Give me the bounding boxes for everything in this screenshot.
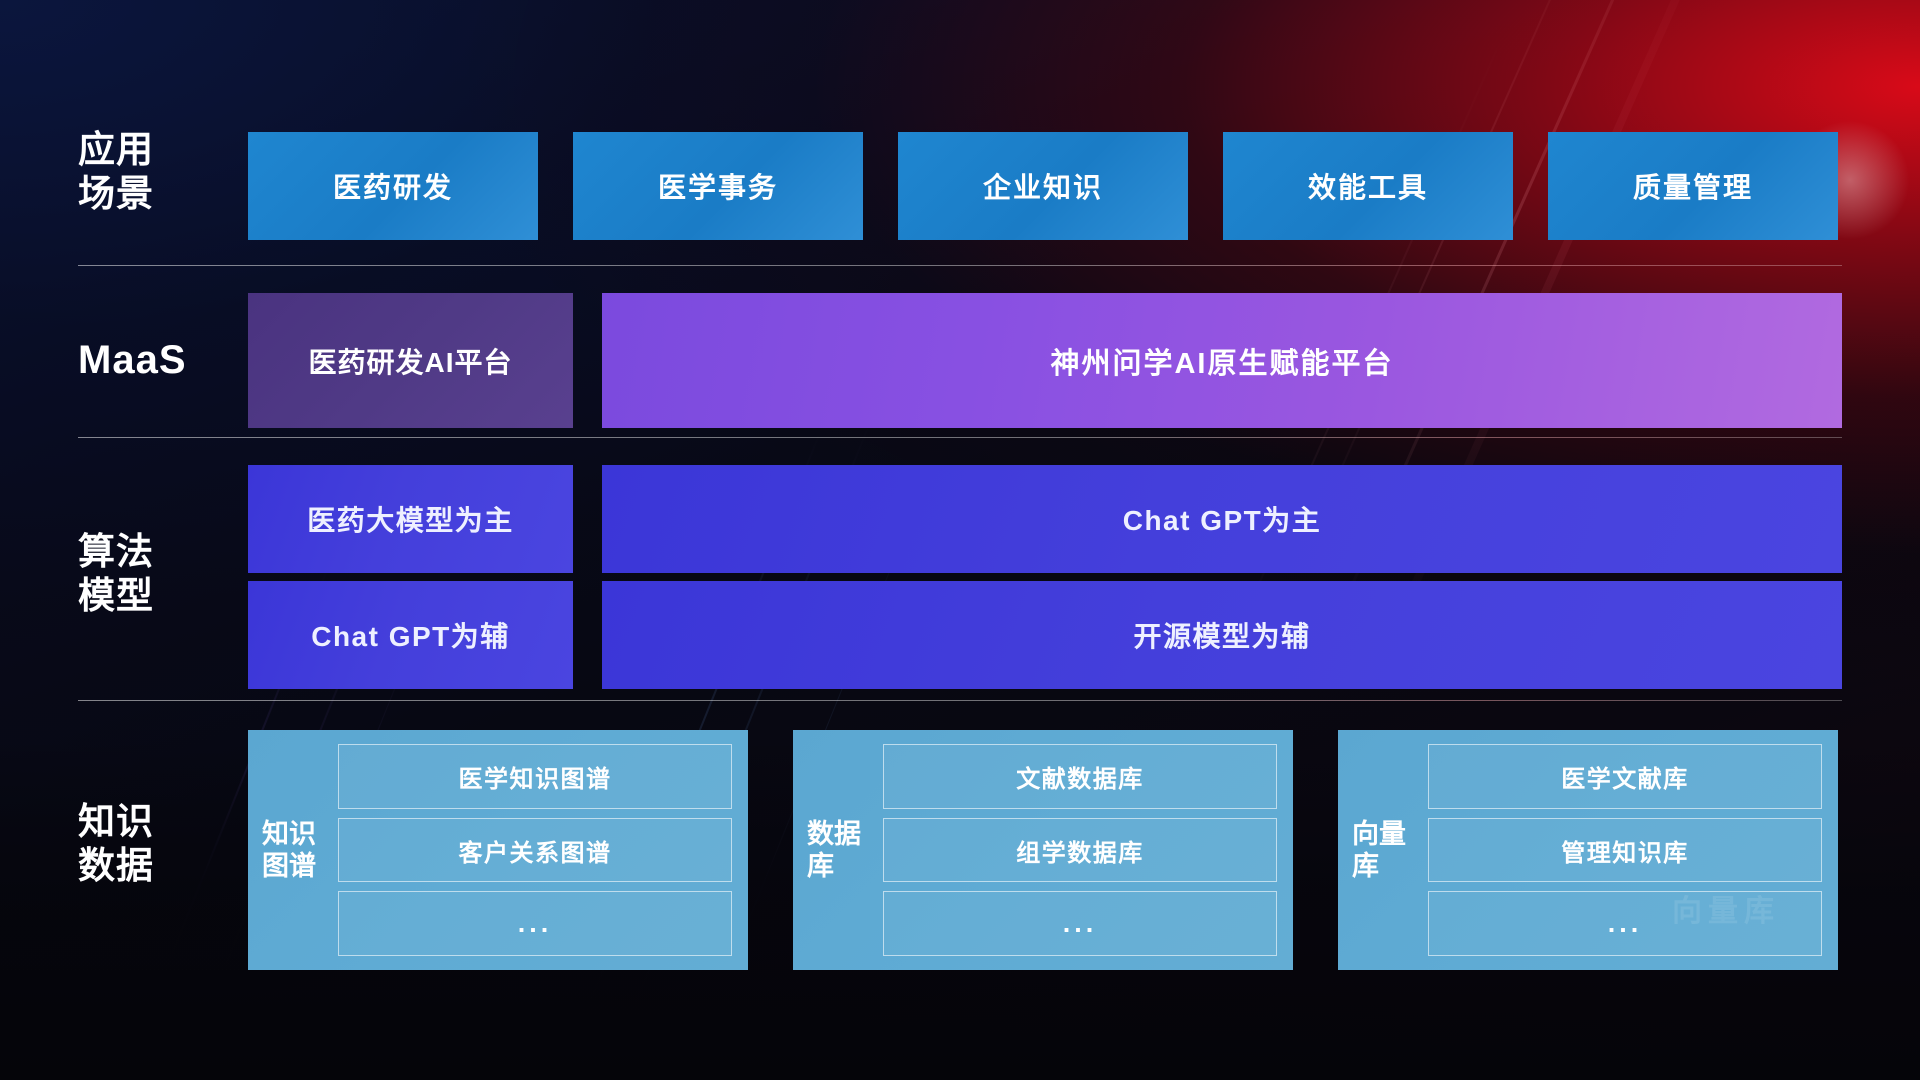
knowledge-item[interactable]: 客户关系图谱: [338, 818, 732, 883]
app-box-5-label: 质量管理: [1633, 166, 1753, 206]
algo-left-1-label: 医药大模型为主: [307, 499, 514, 539]
knowledge-item-more[interactable]: ...: [338, 891, 732, 956]
app-box-2-label: 医学事务: [658, 166, 778, 206]
knowledge-group-1-title: 知识图谱: [262, 744, 324, 956]
algo-right-1-label: Chat GPT为主: [1123, 499, 1322, 539]
knowledge-item-more[interactable]: ...: [883, 891, 1277, 956]
maas-right-label: 神州问学AI原生赋能平台: [1050, 340, 1393, 382]
app-box-4[interactable]: 效能工具: [1223, 132, 1513, 240]
knowledge-item-more[interactable]: ...: [1428, 891, 1822, 956]
algo-left-2-label: Chat GPT为辅: [311, 615, 510, 655]
maas-left-label: 医药研发AI平台: [308, 341, 512, 381]
knowledge-item[interactable]: 组学数据库: [883, 818, 1277, 883]
knowledge-item[interactable]: 管理知识库: [1428, 818, 1822, 883]
app-box-1-label: 医药研发: [333, 166, 453, 206]
maas-platform-box-left[interactable]: 医药研发AI平台: [248, 293, 573, 428]
app-box-3[interactable]: 企业知识: [898, 132, 1188, 240]
maas-platform-box-right[interactable]: 神州问学AI原生赋能平台: [602, 293, 1842, 428]
app-box-4-label: 效能工具: [1308, 166, 1428, 206]
knowledge-group-2[interactable]: 数据库 文献数据库 组学数据库 ...: [793, 730, 1293, 970]
architecture-diagram: 应用 场景 医药研发 医学事务 企业知识 效能工具 质量管理 MaaS 医药研发…: [0, 0, 1920, 1080]
app-box-1[interactable]: 医药研发: [248, 132, 538, 240]
knowledge-group-3-items: 医学文献库 管理知识库 ...: [1428, 744, 1822, 956]
app-box-5[interactable]: 质量管理: [1548, 132, 1838, 240]
algo-box-right-2[interactable]: 开源模型为辅: [602, 581, 1842, 689]
row-label-application: 应用 场景: [78, 128, 218, 215]
divider-maas-algorithm: [78, 437, 1842, 438]
algo-box-left-1[interactable]: 医药大模型为主: [248, 465, 573, 573]
knowledge-item[interactable]: 医学文献库: [1428, 744, 1822, 809]
divider-algorithm-knowledge: [78, 700, 1842, 701]
knowledge-group-2-title: 数据库: [807, 744, 869, 956]
knowledge-item[interactable]: 医学知识图谱: [338, 744, 732, 809]
algo-right-2-label: 开源模型为辅: [1133, 615, 1310, 655]
algo-box-left-2[interactable]: Chat GPT为辅: [248, 581, 573, 689]
divider-application-maas: [78, 265, 1842, 266]
knowledge-group-3[interactable]: 向量库 医学文献库 管理知识库 ...: [1338, 730, 1838, 970]
knowledge-group-1-items: 医学知识图谱 客户关系图谱 ...: [338, 744, 732, 956]
row-label-algorithm: 算法 模型: [78, 530, 218, 617]
row-label-maas: MaaS: [78, 337, 218, 384]
app-box-2[interactable]: 医学事务: [573, 132, 863, 240]
knowledge-group-1[interactable]: 知识图谱 医学知识图谱 客户关系图谱 ...: [248, 730, 748, 970]
row-label-knowledge: 知识 数据: [78, 800, 218, 887]
knowledge-group-3-title: 向量库: [1352, 744, 1414, 956]
algo-box-right-1[interactable]: Chat GPT为主: [602, 465, 1842, 573]
app-box-3-label: 企业知识: [983, 166, 1103, 206]
knowledge-item[interactable]: 文献数据库: [883, 744, 1277, 809]
knowledge-group-2-items: 文献数据库 组学数据库 ...: [883, 744, 1277, 956]
